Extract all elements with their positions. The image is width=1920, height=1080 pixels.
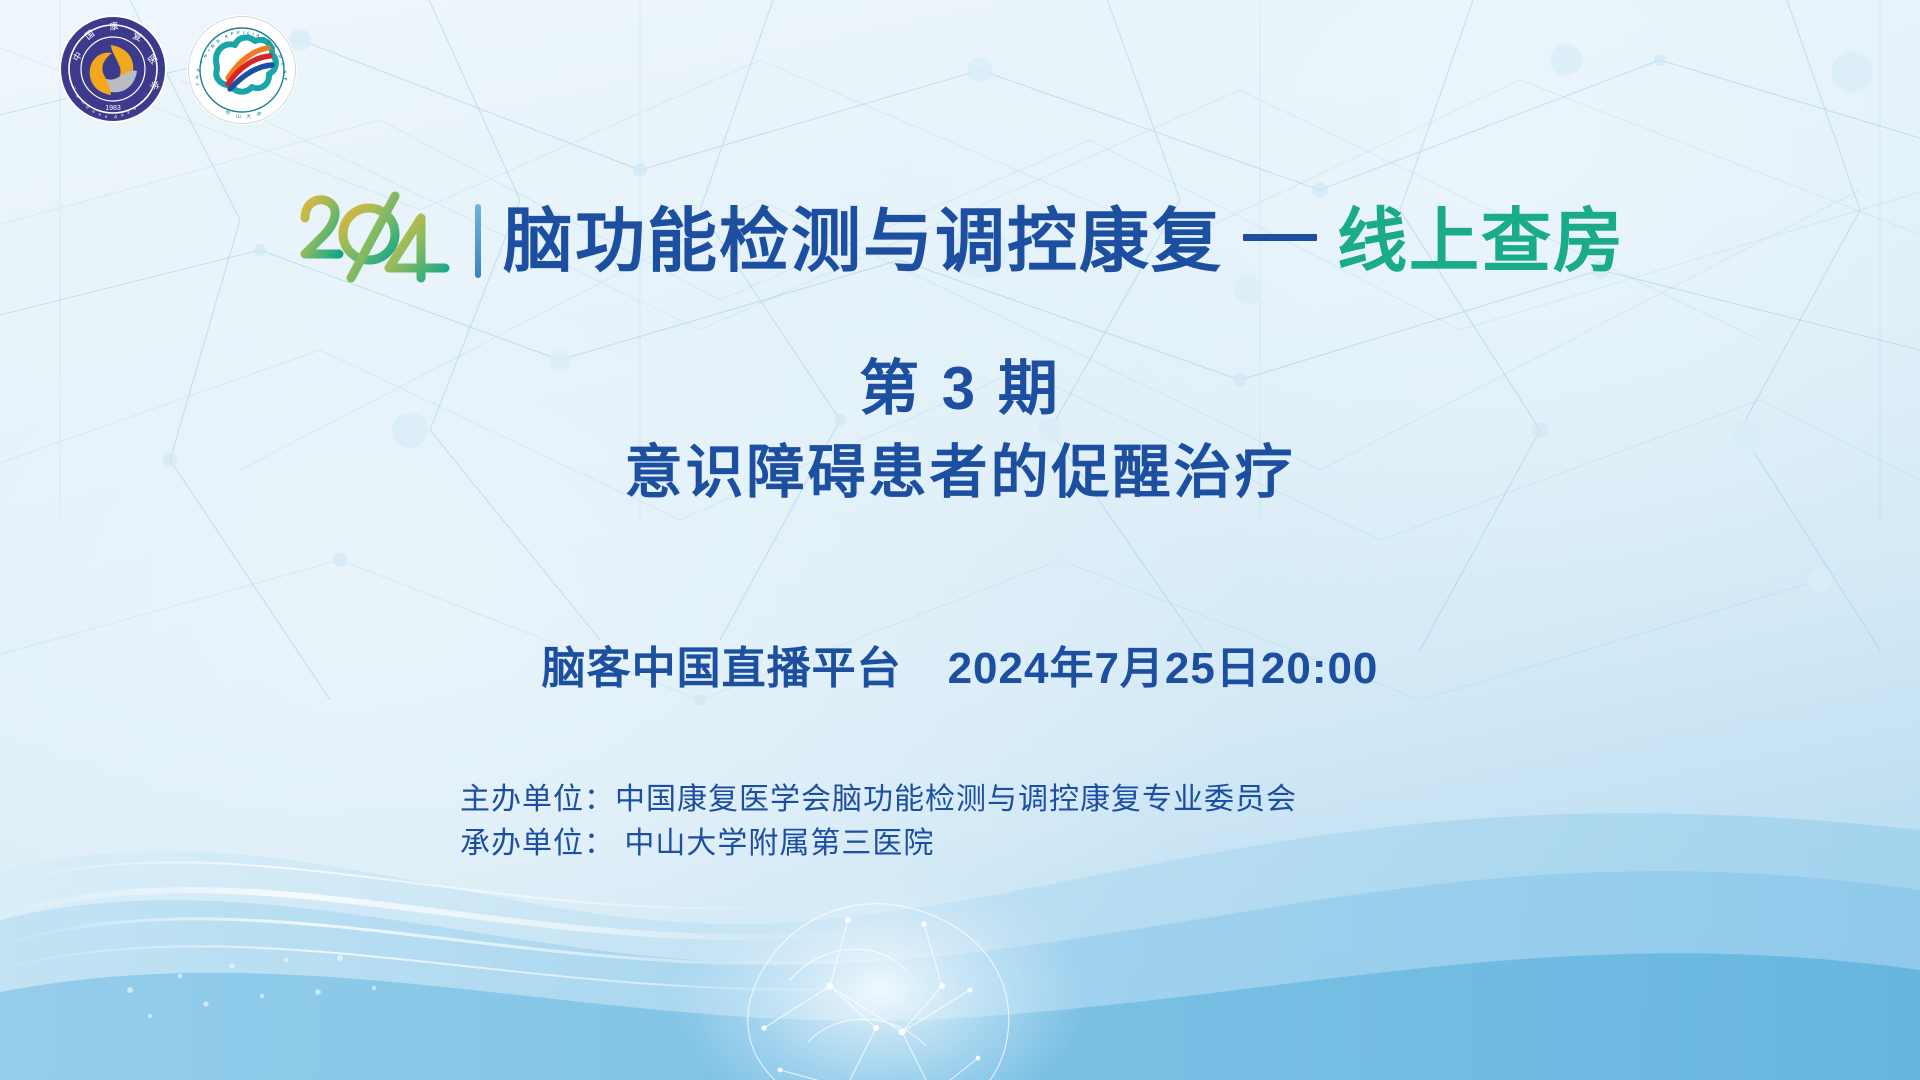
logo-row: 1983 中 国 康 复 医 学 C h i n e s e A [58,14,298,126]
episode-topic: 意识障碍患者的促醒治疗 [0,425,1920,509]
poster-title-accent-text: 线上查房 [1337,202,1625,280]
logo-third-affiliated-hospital-sysu: T H E T H I R D A F F I L I A T E [186,14,298,126]
background-network-decoration [0,0,1920,1080]
title-dash-icon [1243,234,1317,241]
broadcast-datetime: 2024年7月25日20:00 [948,644,1379,693]
organizer-label-co-host: 承办单位： [460,827,615,860]
organizer-line-host: 主办单位：中国康复医学会脑功能检测与调控康复专业委员会 [460,778,1297,822]
poster-main-title-text: 脑功能检测与调控康复 [503,202,1223,280]
poster-canvas: 1983 中 国 康 复 医 学 C h i n e s e A [0,0,1920,1080]
episode-number: 第 3 期 [0,340,1920,427]
organizer-block: 主办单位：中国康复医学会脑功能检测与调控康复专业委员会 承办单位： 中山大学附属… [460,778,1297,865]
year-2024-mark [295,182,455,300]
organizer-value-host: 中国康复医学会脑功能检测与调控康复专业委员会 [615,783,1297,816]
organizer-line-co-host: 承办单位： 中山大学附属第三医院 [460,822,1297,866]
poster-main-title: 脑功能检测与调控康复线上查房 [503,206,1625,276]
svg-text:A: A [114,114,118,119]
logo-china-association-of-rehabilitation-medicine: 1983 中 国 康 复 医 学 C h i n e s e A [58,14,168,124]
main-title-row: 脑功能检测与调控康复线上查房 [0,182,1920,300]
platform-and-datetime-row: 脑客中国直播平台2024年7月25日20:00 [0,632,1920,696]
svg-text:大: 大 [246,113,252,120]
svg-text:1983: 1983 [105,105,121,112]
svg-text:山: 山 [236,113,241,120]
bottom-wave-decoration [0,0,1920,1080]
organizer-label-host: 主办单位： [460,783,615,816]
title-divider [475,204,481,278]
organizer-value-co-host: 中山大学附属第三医院 [615,827,934,860]
broadcast-platform: 脑客中国直播平台 [542,644,902,693]
